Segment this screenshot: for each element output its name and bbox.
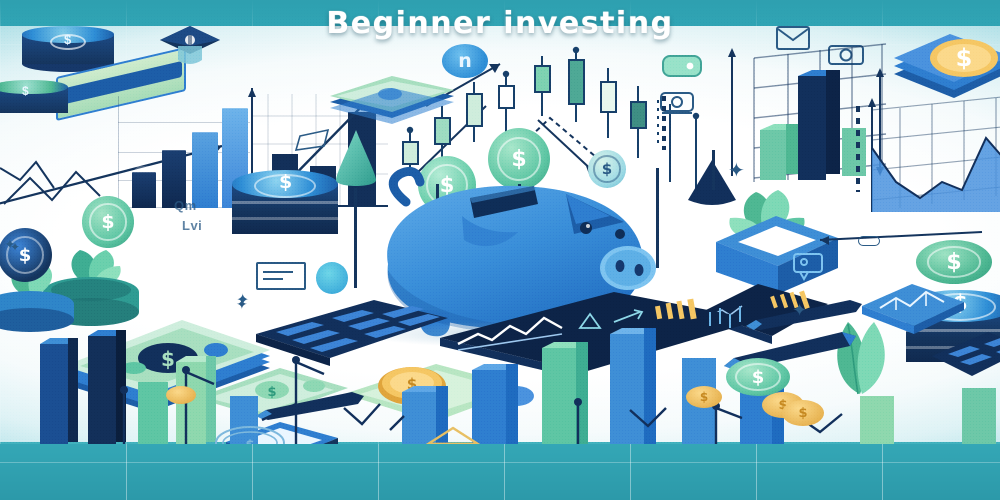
bottom-strip <box>0 444 1000 500</box>
background-noise <box>0 0 1000 500</box>
banner-illustration: $ $ <box>0 0 1000 500</box>
page-title: Beginner investing <box>0 6 1000 41</box>
